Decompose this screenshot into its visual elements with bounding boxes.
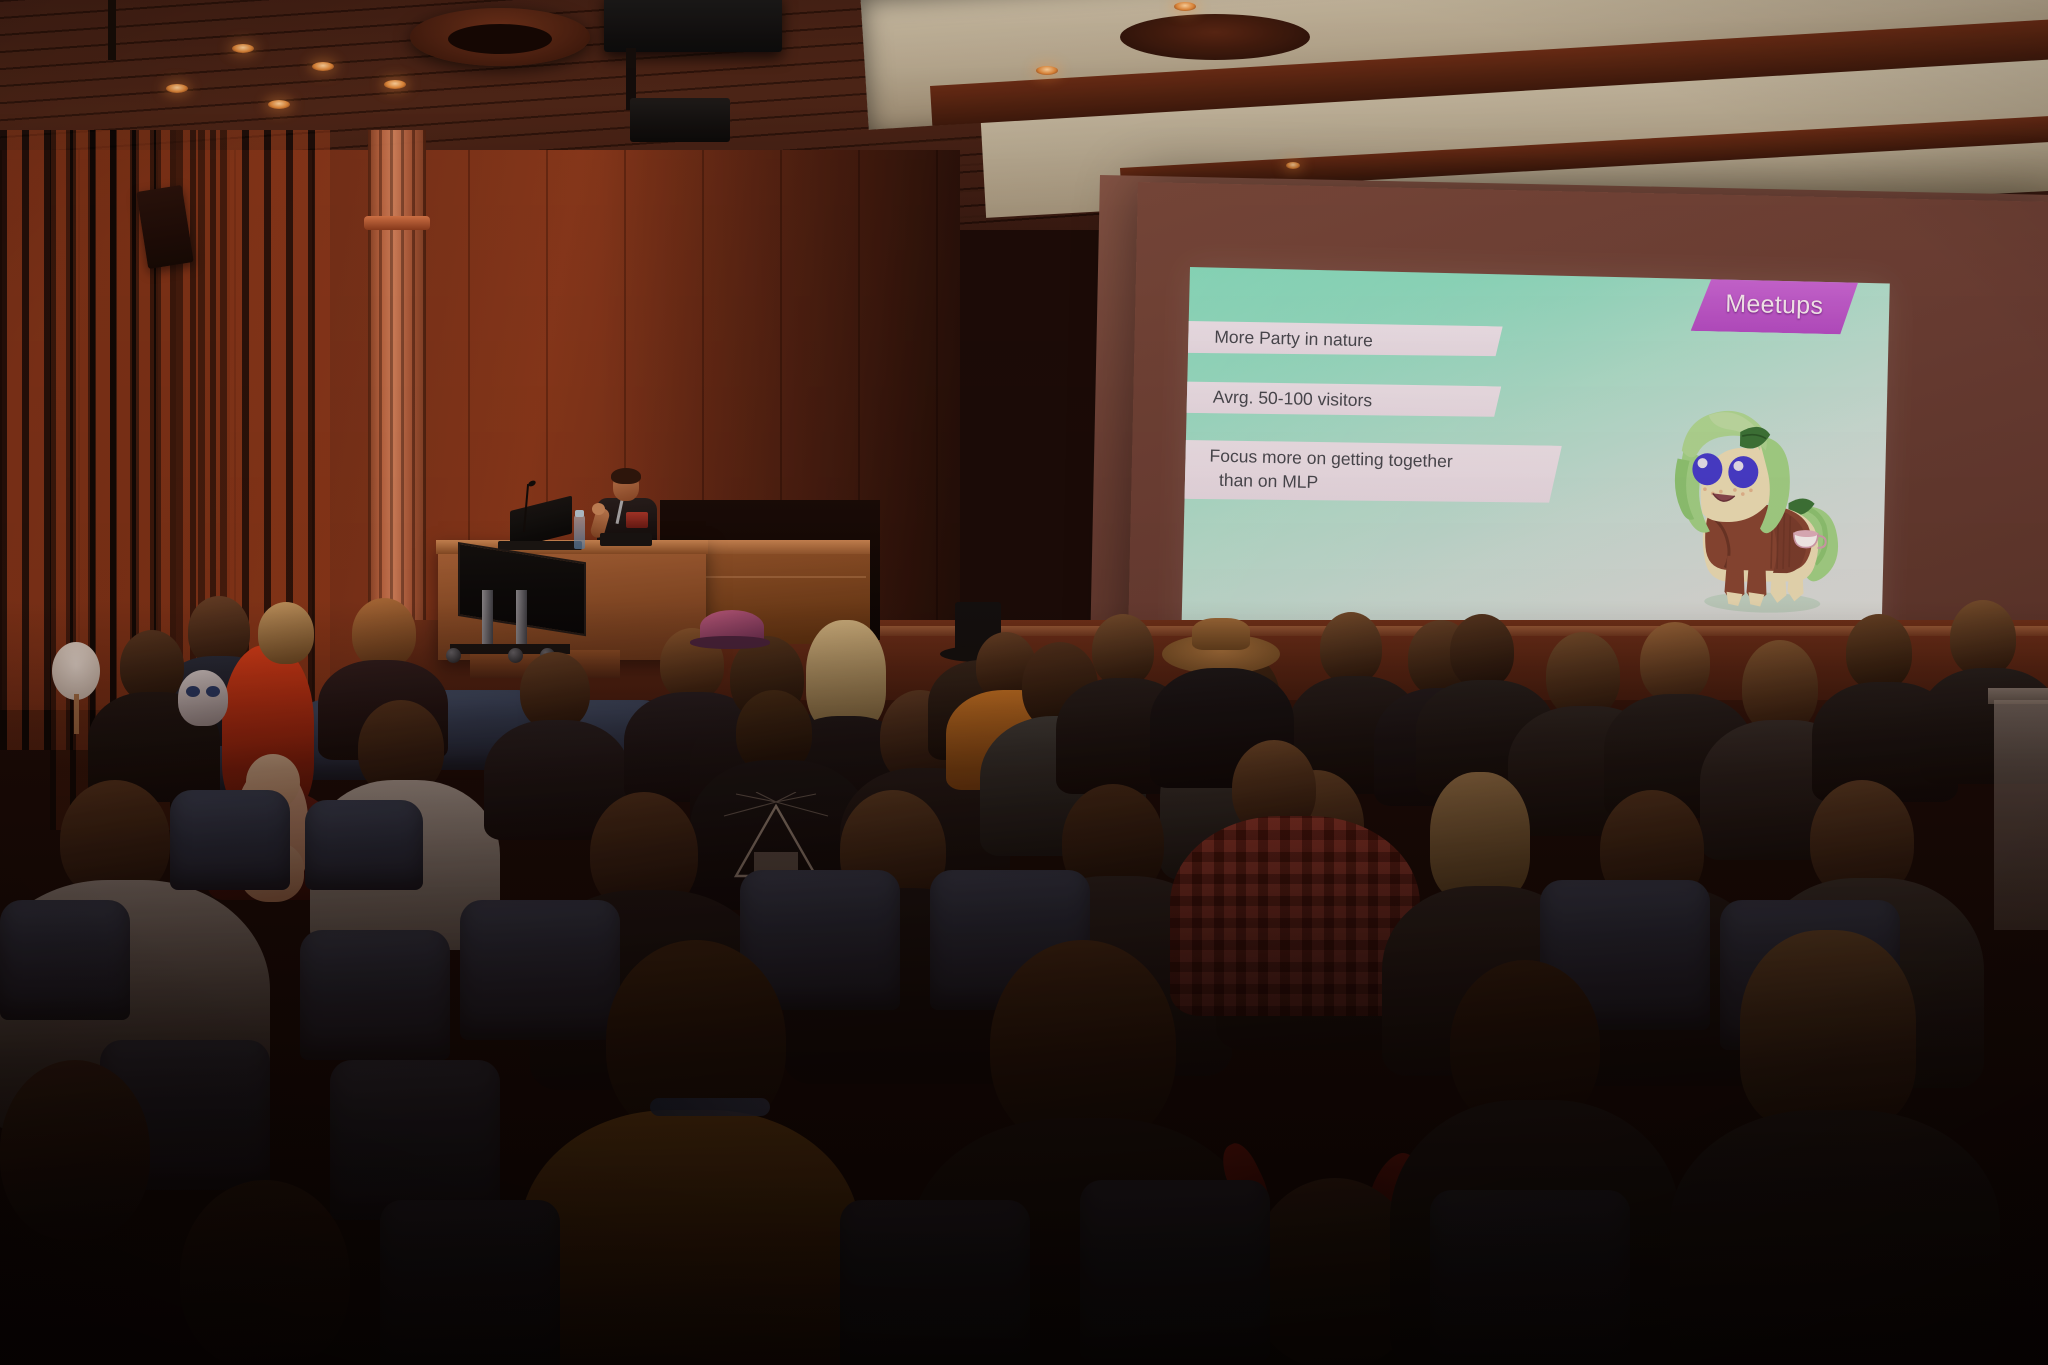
desk-panel-line (690, 576, 866, 578)
cart-caster (446, 648, 461, 663)
cart-caster (508, 648, 523, 663)
ceiling-spotlight (1286, 162, 1300, 169)
ceiling-fixture-inner (448, 24, 552, 54)
water-bottle (574, 515, 585, 549)
theater-seat (300, 930, 450, 1060)
audience-head (1640, 622, 1710, 702)
audience-head (1740, 930, 1916, 1130)
slide-title: Meetups (1725, 289, 1824, 320)
audience-head (0, 1060, 150, 1240)
theater-seat (380, 1200, 560, 1365)
ceiling-spotlight (166, 84, 188, 93)
slide-bullet-2-text: Avrg. 50-100 visitors (1213, 386, 1373, 411)
laptop-base (498, 541, 582, 550)
pony-mask-eye (186, 686, 200, 697)
ceiling-spotlight (232, 44, 254, 53)
secondary-laptop (600, 533, 652, 546)
theater-seat (460, 900, 620, 1040)
paper-fan (52, 642, 100, 700)
cart-leg (482, 590, 493, 652)
curtain-tieback (364, 216, 430, 230)
ceiling-spotlight (1036, 66, 1058, 75)
side-wall-ledge (1988, 688, 2048, 704)
audience-head (520, 652, 590, 730)
lanyard (650, 1098, 770, 1116)
curtain-folds (368, 130, 426, 650)
audience-head (1320, 612, 1382, 684)
baseball-cap-brim (690, 636, 770, 649)
slide-bullet-1-text: More Party in nature (1214, 326, 1373, 351)
ceiling-spotlight (268, 100, 290, 109)
theater-seat (305, 800, 423, 890)
theater-seat (330, 1060, 500, 1220)
presenter-hair (611, 468, 641, 484)
ceiling-spotlight (312, 62, 334, 71)
slide-bullet-2: Avrg. 50-100 visitors (1181, 379, 1501, 421)
theater-seat (170, 790, 290, 890)
projector-housing (630, 98, 730, 142)
audience-shoulders (1670, 1110, 2000, 1365)
theater-seat (840, 1200, 1030, 1365)
audience-blonde-hair (1430, 772, 1530, 902)
presenter-hand (592, 503, 605, 515)
pony-mascot-illustration (1644, 404, 1869, 624)
cart-leg (516, 590, 527, 652)
theater-seat (0, 900, 130, 1020)
ceiling-projector (604, 0, 782, 52)
audience-head (258, 602, 314, 664)
pony-mask-eye (206, 686, 220, 697)
audience-head (1450, 614, 1514, 688)
ceiling-fixture-disc-2 (1120, 14, 1310, 60)
side-wall-structure (1994, 700, 2048, 930)
paper-fan-handle (74, 694, 79, 734)
theater-seat (1080, 1180, 1270, 1360)
presenter-shirt-graphic (626, 512, 648, 528)
audience-head-bald (352, 598, 416, 668)
audience-head (1950, 600, 2016, 676)
audience-orange-tshirt (520, 1110, 860, 1365)
audience-head (180, 1180, 350, 1365)
photo-scene: Meetups More Party in nature Avrg. 50-10… (0, 0, 2048, 1365)
pony-mask (178, 670, 228, 726)
slide-bullet-1: More Party in nature (1182, 319, 1503, 361)
ceiling-spotlight (1174, 2, 1196, 11)
audience-head (1846, 614, 1912, 690)
projected-slide: Meetups More Party in nature Avrg. 50-10… (1181, 267, 1890, 668)
audience-head (1092, 614, 1154, 686)
slide-bullet-3: Focus more on getting together than on M… (1181, 437, 1562, 508)
water-bottle-cap (575, 510, 584, 517)
ceiling-rod (108, 0, 116, 60)
theater-seat (1430, 1190, 1630, 1365)
cowboy-hat-crown (1192, 618, 1250, 650)
ceiling-spotlight (384, 80, 406, 89)
